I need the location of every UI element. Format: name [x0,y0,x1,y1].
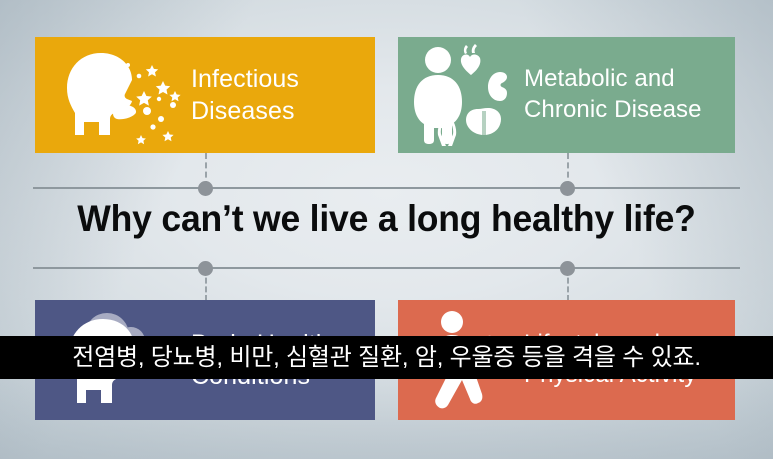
slide-canvas: Infectious Diseases [0,0,773,459]
divider-line-bottom [33,267,740,269]
divider-line-top [33,187,740,189]
connector-dot-bottom-left [198,261,213,276]
connector-dot-top-left [198,181,213,196]
connector-dot-bottom-right [560,261,575,276]
card-metabolic-chronic-disease-label: Metabolic and Chronic Disease [524,64,702,125]
card-infectious-diseases-label: Infectious Diseases [191,63,299,127]
subtitle-text: 전염병, 당뇨병, 비만, 심혈관 질환, 암, 우울증 등을 격을 수 있죠. [72,346,701,370]
subtitle-overlay-bar: 전염병, 당뇨병, 비만, 심혈관 질환, 암, 우울증 등을 격을 수 있죠. [0,336,773,379]
obese-body-organs-ribbon-icon [406,42,522,148]
card-metabolic-chronic-disease[interactable]: Metabolic and Chronic Disease [398,37,735,153]
page-title: Why can’t we live a long healthy life? [15,198,757,240]
connector-dot-top-right [560,181,575,196]
card-infectious-diseases[interactable]: Infectious Diseases [35,37,375,153]
head-sneezing-particles-icon [49,43,189,147]
